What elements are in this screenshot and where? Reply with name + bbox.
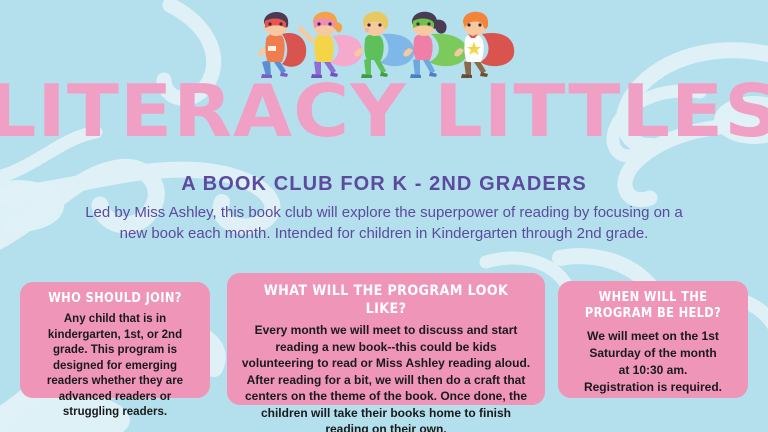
registration-required-period: . [719,380,722,394]
info-card-title: WHAT WILL THE PROGRAM LOOK LIKE? [256,282,516,318]
info-card-who-should-join: WHO SHOULD JOIN? Any child that is in ki… [20,282,210,398]
info-card-title: WHEN WILL THE PROGRAM BE HELD? [579,290,727,322]
poster-intro-paragraph: Led by Miss Ashley, this book club will … [84,202,684,244]
schedule-line-1: We will meet on the 1st [569,328,737,345]
info-card-body: Every month we will meet to discuss and … [238,322,534,432]
info-card-body: We will meet on the 1st Saturday of the … [569,328,737,396]
poster-subtitle: A BOOK CLUB FOR K - 2ND GRADERS [0,172,768,196]
info-card-program-description: WHAT WILL THE PROGRAM LOOK LIKE? Every m… [227,273,545,405]
schedule-line-3: at 10:30 am. [569,362,737,379]
poster-title: LITERACY LITTLES [0,72,768,150]
info-card-schedule: WHEN WILL THE PROGRAM BE HELD? We will m… [558,281,748,398]
schedule-line-4: Registration is required. [569,379,737,396]
poster-canvas: LITERACY LITTLES A BOOK CLUB FOR K - 2ND… [0,0,768,432]
info-card-title: WHO SHOULD JOIN? [41,291,189,307]
registration-required-text: Registration is required [584,380,719,394]
schedule-line-2: Saturday of the month [569,345,737,362]
info-card-body: Any child that is in kindergarten, 1st, … [31,312,199,421]
